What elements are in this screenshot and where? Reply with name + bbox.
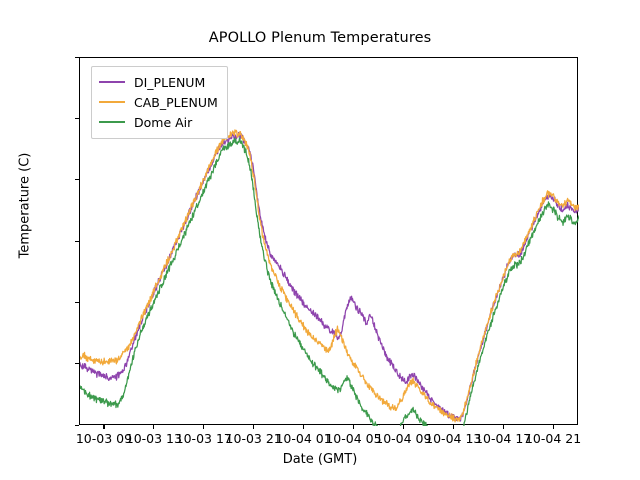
- series-line-di-plenum: [80, 132, 579, 421]
- x-tick-label: 10-04 13: [425, 431, 481, 446]
- x-tick-label: 10-04 05: [325, 431, 381, 446]
- x-tick-label: 10-03 17: [176, 431, 232, 446]
- series-line-dome-air: [80, 138, 579, 426]
- chart-title: APOLLO Plenum Temperatures: [0, 30, 640, 46]
- legend-label: DI_PLENUM: [134, 75, 205, 90]
- x-tick-label: 10-03 21: [226, 431, 282, 446]
- legend-color-swatch: [99, 81, 125, 83]
- legend-item[interactable]: CAB_PLENUM: [99, 92, 218, 112]
- legend-item[interactable]: DI_PLENUM: [99, 72, 218, 92]
- y-axis-label: Temperature (C): [18, 76, 33, 336]
- x-tick-label: 10-04 09: [375, 431, 431, 446]
- series-line-cab-plenum: [80, 130, 579, 422]
- legend-color-swatch: [99, 101, 125, 103]
- x-tick-label: 10-03 13: [126, 431, 182, 446]
- plot-area: DI_PLENUMCAB_PLENUMDome Air: [79, 57, 578, 425]
- x-axis-label: Date (GMT): [0, 452, 640, 467]
- legend-item[interactable]: Dome Air: [99, 112, 218, 132]
- legend-color-swatch: [99, 121, 125, 123]
- x-tick-label: 10-03 09: [76, 431, 132, 446]
- x-tick-label: 10-04 21: [525, 431, 581, 446]
- x-tick-label: 10-04 17: [475, 431, 531, 446]
- chart-legend: DI_PLENUMCAB_PLENUMDome Air: [91, 66, 228, 139]
- x-tick-label: 10-04 01: [275, 431, 331, 446]
- legend-label: CAB_PLENUM: [134, 95, 218, 110]
- legend-label: Dome Air: [134, 115, 192, 130]
- chart-figure: APOLLO Plenum Temperatures Temperature (…: [0, 0, 640, 480]
